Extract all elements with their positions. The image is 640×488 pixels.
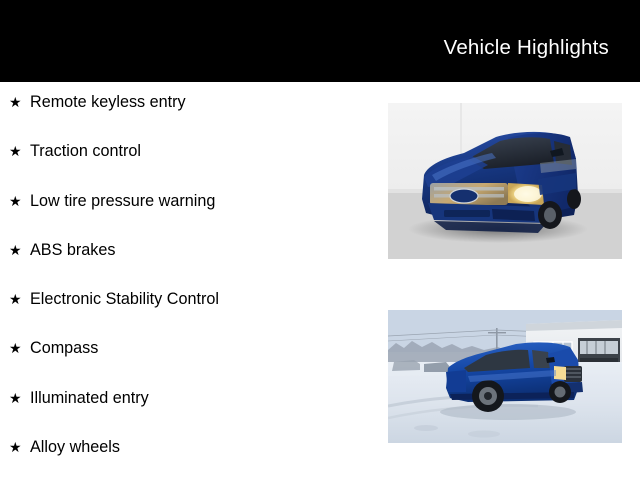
- list-item: ★ Alloy wheels: [0, 439, 380, 488]
- star-bullet-icon: ★: [9, 292, 30, 306]
- page-title: Vehicle Highlights: [444, 22, 640, 60]
- feature-label: Traction control: [30, 143, 141, 159]
- list-item: ★ ABS brakes: [0, 242, 380, 291]
- feature-label: Low tire pressure warning: [30, 193, 215, 209]
- list-item: ★ Illuminated entry: [0, 390, 380, 439]
- star-bullet-icon: ★: [9, 243, 30, 257]
- star-bullet-icon: ★: [9, 391, 30, 405]
- list-item: ★ Compass: [0, 340, 380, 389]
- star-bullet-icon: ★: [9, 144, 30, 158]
- vehicle-features-list: ★ Remote keyless entry ★ Traction contro…: [0, 82, 380, 480]
- studio-truck-illustration: [388, 103, 622, 259]
- star-bullet-icon: ★: [9, 95, 30, 109]
- star-bullet-icon: ★: [9, 194, 30, 208]
- feature-label: ABS brakes: [30, 242, 115, 258]
- star-bullet-icon: ★: [9, 341, 30, 355]
- blue-pickup-truck-snow-photo: [388, 310, 622, 443]
- snow-truck-illustration: [388, 310, 622, 443]
- feature-label: Compass: [30, 340, 98, 356]
- feature-label: Electronic Stability Control: [30, 291, 219, 307]
- vehicle-highlights-slide: Vehicle Highlights ★ Remote keyless entr…: [0, 0, 640, 480]
- blue-pickup-truck-studio-photo: [388, 103, 622, 259]
- feature-label: Illuminated entry: [30, 390, 149, 406]
- list-item: ★ Low tire pressure warning: [0, 193, 380, 242]
- list-item: ★ Traction control: [0, 143, 380, 192]
- feature-label: Alloy wheels: [30, 439, 120, 455]
- star-bullet-icon: ★: [9, 440, 30, 454]
- header-bar: Vehicle Highlights: [0, 0, 640, 82]
- feature-label: Remote keyless entry: [30, 94, 186, 110]
- list-item: ★ Remote keyless entry: [0, 94, 380, 143]
- list-item: ★ Electronic Stability Control: [0, 291, 380, 340]
